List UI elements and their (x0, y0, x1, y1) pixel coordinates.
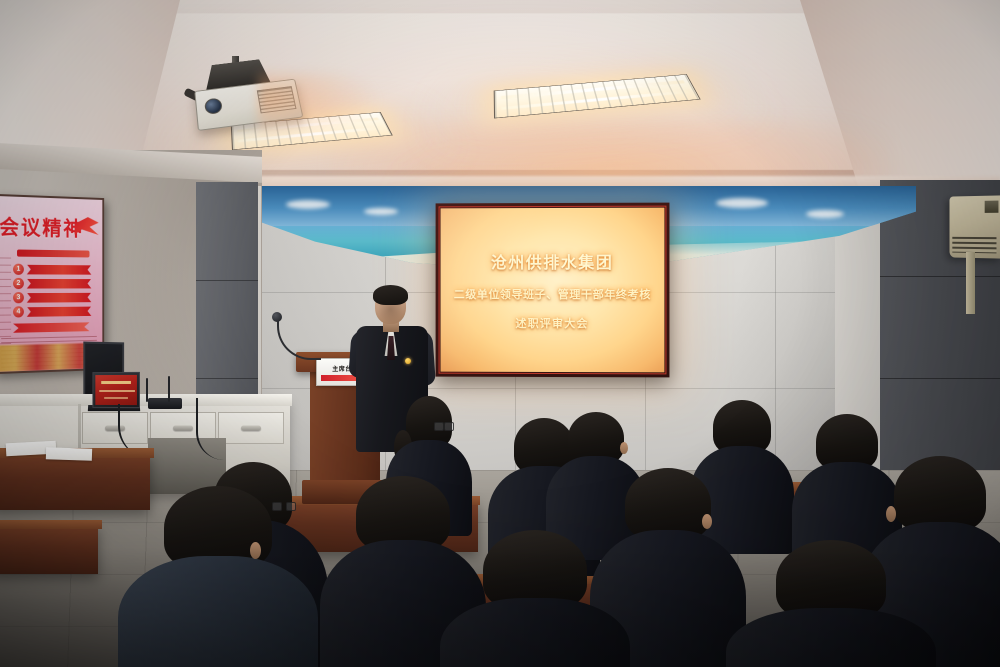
microphone-stand (146, 378, 148, 402)
audience-torso (440, 598, 630, 667)
speaker-lapel-pin-icon (405, 358, 411, 364)
poster-item-ribbon (27, 264, 92, 274)
glasses-icon (434, 422, 454, 429)
audience-ear (702, 514, 712, 529)
poster-item-number: 3 (13, 292, 24, 303)
microphone-icon (272, 312, 282, 322)
audience-torso (726, 608, 936, 667)
speaker-face-shadow (378, 303, 403, 323)
speaker-hair (373, 285, 408, 305)
conference-room-photo: 沧州供排水集团 二级单位领导班子、管理干部年终考核 述职评审大会 会议精神 1 … (0, 0, 1000, 667)
audience-member (726, 540, 936, 667)
slide-subtitle-2: 述职评审大会 (515, 315, 588, 331)
poster-item-ribbon (27, 306, 92, 317)
audience-ear (620, 442, 628, 454)
audience-torso (118, 556, 318, 667)
poster-footer-band (13, 322, 89, 332)
audience-hair (894, 456, 986, 532)
desk (0, 524, 98, 574)
poster-list-item: 1 (13, 264, 91, 275)
audience-ear (250, 542, 261, 559)
projector-lens-icon (204, 98, 223, 115)
audience-ear (886, 506, 896, 522)
drawer-handle (173, 426, 193, 431)
laptop-icon[interactable] (92, 372, 140, 408)
slide-title: 沧州供排水集团 (491, 249, 613, 273)
laptop-screen (95, 375, 137, 405)
audience-member (440, 530, 630, 667)
poster-subheading-band (17, 250, 89, 258)
poster-item-number: 1 (13, 264, 24, 275)
poster-item-ribbon (27, 278, 92, 288)
poster-list-item: 2 (13, 278, 91, 289)
counter-drawer[interactable] (218, 412, 284, 444)
ac-pipe (966, 252, 975, 314)
slide-content: 沧州供排水集团 二级单位领导班子、管理干部年终考核 述职评审大会 (441, 208, 665, 373)
desk-top (0, 520, 102, 529)
slide-subtitle-1: 二级单位领导班子、管理干部年终考核 (454, 286, 651, 302)
ac-vent (952, 237, 996, 254)
microphone-stand (168, 376, 170, 402)
drawer-handle (241, 426, 261, 431)
ac-control-panel (985, 201, 999, 213)
paper-document (46, 447, 92, 461)
audience-member (118, 486, 318, 667)
poster-item-number: 2 (13, 278, 24, 289)
air-conditioner-icon (950, 195, 1000, 258)
projection-screen[interactable]: 沧州供排水集团 二级单位领导班子、管理干部年终考核 述职评审大会 (436, 203, 670, 378)
poster-side-text (0, 257, 11, 345)
poster-list-item: 4 (13, 306, 91, 318)
poster-item-number: 4 (13, 306, 24, 317)
audio-mixer (148, 398, 182, 409)
poster-list-item: 3 (13, 292, 91, 303)
projector-beam-glow (258, 72, 378, 142)
poster-item-ribbon (27, 292, 92, 302)
